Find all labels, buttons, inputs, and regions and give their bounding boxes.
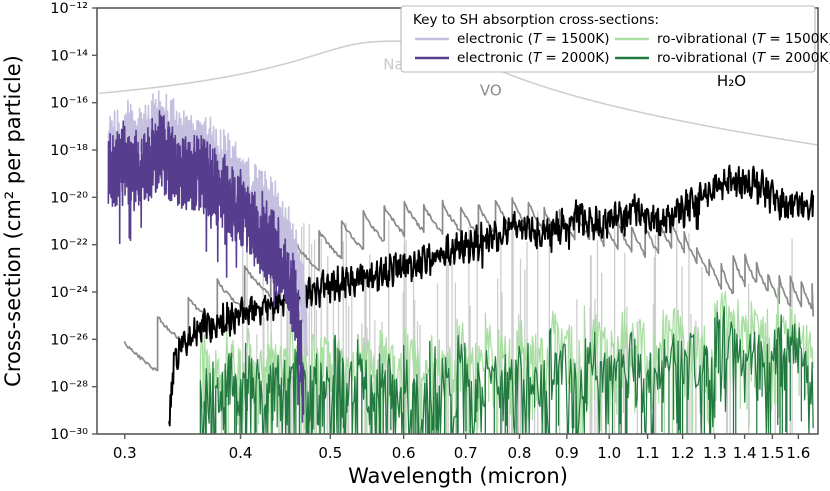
x-tick-label: 0.6	[392, 444, 416, 462]
legend-label: ro-vibrational (T = 1500K)	[657, 31, 830, 47]
y-tick-label: 10⁻³⁰	[50, 427, 88, 443]
y-tick-label: 10⁻¹⁴	[50, 48, 88, 64]
figure-root: 0.30.40.50.60.70.80.91.01.11.21.31.41.51…	[0, 0, 830, 491]
y-tick-label: 10⁻¹⁸	[50, 143, 88, 159]
x-tick-label: 1.6	[786, 444, 810, 462]
x-tick-label: 0.5	[318, 444, 342, 462]
y-tick-label: 10⁻²⁸	[50, 380, 88, 396]
legend-label: ro-vibrational (T = 2000K)	[657, 50, 830, 66]
x-tick-label: 1.2	[671, 444, 695, 462]
y-tick-label: 10⁻¹⁶	[50, 96, 88, 112]
x-tick-label: 1.5	[760, 444, 784, 462]
x-tick-label: 0.4	[229, 444, 253, 462]
x-tick-label: 0.9	[555, 444, 579, 462]
legend-label: electronic (T = 1500K)	[457, 31, 610, 47]
x-tick-label: 1.4	[733, 444, 757, 462]
x-tick-label: 0.7	[454, 444, 478, 462]
y-tick-label: 10⁻²⁴	[50, 285, 88, 301]
x-tick-label: 1.0	[597, 444, 621, 462]
annotation-h2o: H₂O	[717, 72, 746, 90]
spectrum-plot: 0.30.40.50.60.70.80.91.01.11.21.31.41.51…	[0, 0, 830, 491]
legend[interactable]: Key to SH absorption cross-sections:elec…	[401, 6, 830, 72]
x-axis-title: Wavelength (micron)	[348, 464, 568, 488]
y-tick-label: 10⁻²⁶	[50, 332, 88, 348]
x-tick-label: 0.3	[113, 444, 137, 462]
x-tick-label: 1.3	[703, 444, 727, 462]
y-axis-title: Cross-section (cm² per particle)	[1, 55, 25, 387]
y-tick-label: 10⁻²⁰	[50, 190, 88, 206]
legend-label: electronic (T = 2000K)	[457, 50, 610, 66]
x-tick-label: 0.8	[508, 444, 532, 462]
legend-title: Key to SH absorption cross-sections:	[413, 12, 659, 28]
x-tick-label: 1.1	[636, 444, 660, 462]
annotation-vo: VO	[480, 82, 502, 100]
y-tick-label: 10⁻¹²	[50, 1, 88, 17]
y-tick-label: 10⁻²²	[50, 238, 88, 254]
